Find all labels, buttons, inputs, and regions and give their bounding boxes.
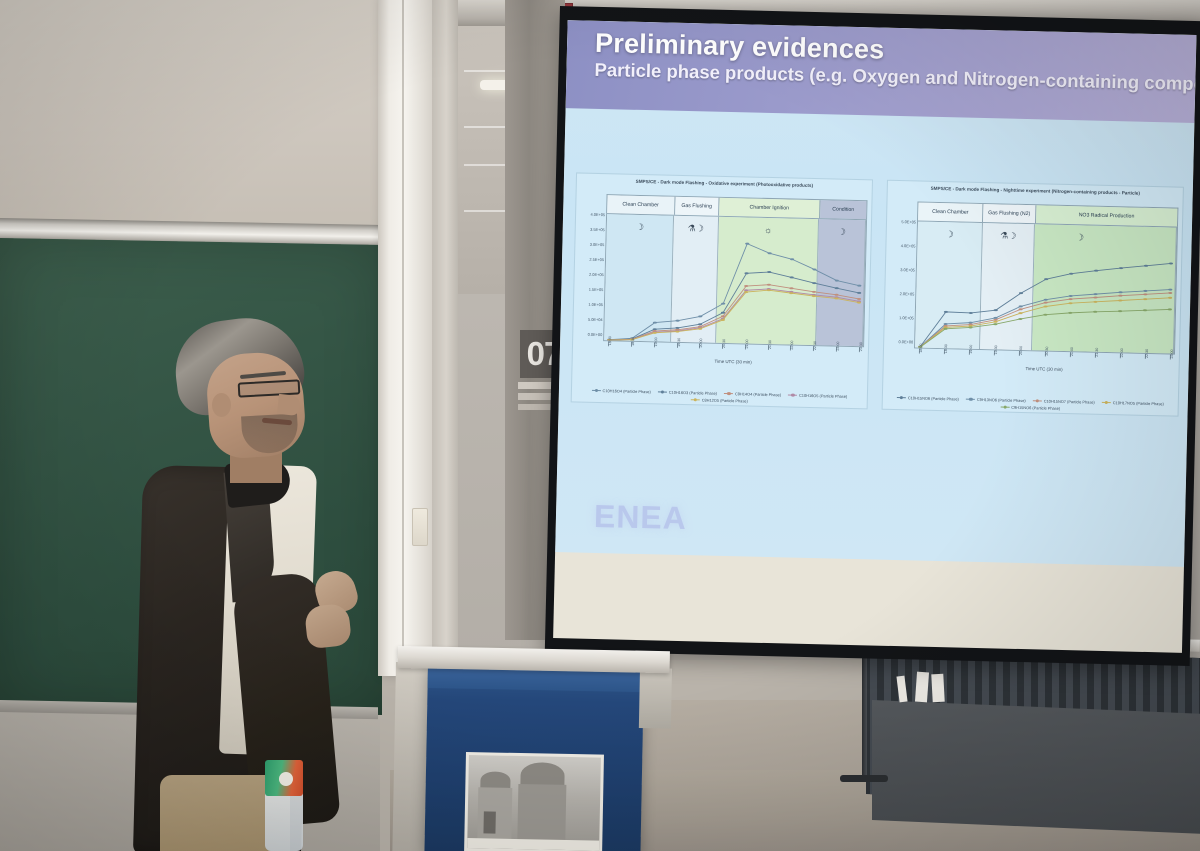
legend-marker-icon [966, 398, 975, 400]
legend-label: C9H14O4 (Particle Phase) [735, 391, 781, 397]
x-tick-label: 18:30 [631, 337, 635, 346]
legend-item: C9H13NO6 (Particle Phase) [966, 397, 1026, 403]
lectern-graphic-panel [464, 752, 604, 851]
series-point [744, 289, 748, 291]
upper-wall [0, 0, 400, 230]
legend-marker-icon [788, 394, 797, 396]
series-point [1118, 299, 1122, 301]
slat-wall-base [872, 700, 1200, 834]
chart-title: SMPS/CE - Dark mode Flashing - Oxidative… [577, 177, 872, 189]
series-line [920, 258, 1171, 353]
y-tick: 3.0E+05 [900, 267, 915, 272]
wall-pillar-secondary [432, 0, 458, 658]
legend-marker-icon [691, 399, 700, 401]
enea-logo: ENEA [594, 498, 688, 537]
x-tick-label: 19:30 [677, 338, 681, 347]
legend-label: C10H16O5 (Particle Phase) [799, 393, 847, 399]
legend-marker-icon [592, 390, 601, 392]
x-tick-label: 21:00 [745, 339, 749, 348]
series-point [1168, 297, 1172, 299]
x-tick-label: 20:00 [1019, 346, 1023, 355]
series-point [1168, 308, 1172, 310]
y-tick: 3.0E+05 [590, 242, 605, 247]
legend-marker-icon [1033, 400, 1042, 402]
legend-marker-icon [1000, 406, 1009, 408]
series-point [1068, 312, 1072, 314]
x-tick-label: 23:00 [836, 342, 840, 351]
y-tick: 2.0E+05 [589, 272, 604, 277]
papers-on-ledge [898, 672, 964, 704]
bottle-body [265, 790, 303, 851]
y-tick: 0.0E+00 [588, 332, 603, 337]
legend-marker-icon [1102, 402, 1111, 404]
series-point [969, 312, 973, 314]
phase-label-clean-chamber: Clean Chamber [918, 203, 984, 223]
chart-y-tick-labels: 5.0E+05 4.0E+05 3.0E+05 2.0E+05 1.0E+05 … [889, 219, 917, 220]
x-tick-label: 22:00 [790, 341, 794, 350]
series-point [1093, 293, 1097, 295]
legend-label: C10H16O4 (Particle Phase) [603, 388, 651, 394]
x-tick-label: 19:30 [994, 345, 998, 354]
building-illustration [467, 755, 601, 851]
y-tick: 5.0E+04 [588, 317, 603, 322]
series-point [1118, 310, 1122, 312]
x-tick-label: 22:30 [813, 341, 817, 350]
x-tick-label: 21:30 [768, 340, 772, 349]
series-point [857, 298, 861, 300]
legend-marker-icon [897, 397, 906, 399]
legend-marker-icon [658, 391, 667, 393]
series-point [1143, 290, 1147, 292]
phase-label-chamber-ignition: Chamber Ignition [719, 198, 820, 218]
y-tick: 3.5E+05 [590, 227, 605, 232]
series-point [812, 291, 816, 293]
series-point [1068, 302, 1072, 304]
series-point [1069, 295, 1073, 297]
series-point [1143, 298, 1147, 300]
series-point [744, 285, 748, 287]
series-point [767, 284, 771, 286]
series-line [920, 287, 1170, 353]
legend-item: C9H14O4 (Particle Phase) [724, 391, 781, 397]
x-tick-label: 18:00 [608, 336, 612, 345]
series-point [1094, 270, 1098, 272]
legend-label: C10H17NO5 (Particle Phase) [1113, 400, 1164, 406]
y-tick: 2.5E+05 [589, 257, 604, 262]
legend-label: C8H12O5 (Particle Phase) [702, 397, 748, 403]
legend-item: C10H16O5 (Particle Phase) [788, 392, 847, 398]
charts-row: SMPS/CE - Dark mode Flashing - Oxidative… [571, 172, 1184, 416]
series-point [1168, 289, 1172, 291]
x-tick-label: 20:30 [722, 339, 726, 348]
chart-legend: C10H16O4 (Particle Phase)C10H16O3 (Parti… [574, 387, 865, 406]
x-tick-label: 20:30 [1044, 347, 1048, 356]
series-point [1093, 311, 1097, 313]
series-point [789, 287, 793, 289]
water-bottle [265, 760, 303, 851]
chart-plot-area: ☽ ⚗☽ ☽ [914, 220, 1178, 354]
projection-surface: Preliminary evidences Particle phase pro… [553, 20, 1196, 653]
legend-item: C8H12O5 (Particle Phase) [691, 397, 748, 403]
legend-marker-icon [724, 393, 733, 395]
chart-card-nighttime: SMPS/CE - Dark mode Flashing - Nighttime… [882, 180, 1184, 417]
x-tick-label: 21:30 [1094, 348, 1098, 357]
chart-plot-wrap: Clean Chamber Gas Flushing (N2) NO3 Radi… [914, 201, 1179, 375]
x-tick-label: 20:00 [699, 338, 703, 347]
chart-plot-wrap: Clean Chamber Gas Flushing Chamber Ignit… [603, 194, 868, 368]
legend-label: C10H16O3 (Particle Phase) [669, 390, 717, 396]
series-point [1169, 262, 1173, 264]
x-tick-label: 21:00 [1069, 347, 1073, 356]
bottle-label-badge [279, 772, 293, 786]
series-point [676, 320, 680, 322]
phase-label-clean-chamber: Clean Chamber [607, 195, 675, 215]
y-tick: 2.0E+05 [900, 291, 915, 296]
chart-y-tick-labels: 4.0E+05 3.5E+05 3.0E+05 2.5E+05 2.0E+05 … [578, 211, 606, 212]
microphone-stand-base [840, 775, 888, 782]
x-tick-label: 23:00 [1170, 349, 1174, 358]
series-line [920, 292, 1170, 353]
x-tick-label: 18:00 [919, 344, 923, 353]
series-point [1143, 293, 1147, 295]
lectern-side-right [639, 668, 672, 729]
phase-label-gas-flushing: Gas Flushing [675, 197, 720, 216]
x-tick-label: 19:00 [969, 345, 973, 354]
chart-series-overlay [915, 221, 1177, 353]
series-point [968, 322, 972, 324]
projection-screen: Preliminary evidences Particle phase pro… [545, 6, 1200, 666]
legend-label: C10H15NO7 (Particle Phase) [1044, 399, 1095, 405]
x-tick-label: 19:00 [654, 337, 658, 346]
chart-title: SMPS/CE - Dark mode Flashing - Nighttime… [888, 185, 1183, 197]
lecture-hall-photo: 07 P [0, 0, 1200, 851]
legend-label: C9H15NO6 (Particle Phase) [1011, 405, 1060, 411]
y-tick: 0.0E+00 [899, 339, 914, 344]
legend-label: C9H13NO6 (Particle Phase) [977, 397, 1026, 403]
phase-label-condition: Condition [820, 200, 866, 219]
chart-legend: C10H15NO6 (Particle Phase)C9H13NO6 (Part… [885, 395, 1176, 414]
y-tick: 5.0E+05 [901, 219, 916, 224]
series-point [1119, 267, 1123, 269]
microphone-stand-pole [862, 640, 867, 780]
series-point [1143, 309, 1147, 311]
series-point [1118, 295, 1122, 297]
presentation-slide: Preliminary evidences Particle phase pro… [555, 20, 1196, 567]
chart-series-overlay [604, 214, 866, 346]
legend-item: C10H15NO7 (Particle Phase) [1033, 398, 1095, 404]
legend-item: C10H15NO6 (Particle Phase) [897, 395, 959, 401]
y-tick: 1.0E+05 [899, 315, 914, 320]
series-point [744, 272, 748, 274]
chart-card-oxidative: SMPS/CE - Dark mode Flashing - Oxidative… [571, 172, 873, 409]
legend-item: C10H16O4 (Particle Phase) [592, 388, 651, 394]
slide-header: Preliminary evidences Particle phase pro… [566, 20, 1197, 123]
legend-item: C9H15NO6 (Particle Phase) [1000, 404, 1060, 410]
x-tick-label: 22:30 [1145, 349, 1149, 358]
series-point [1093, 296, 1097, 298]
y-tick: 4.0E+05 [590, 212, 605, 217]
wall-switch-plate[interactable] [412, 508, 428, 546]
series-line [920, 284, 1170, 353]
x-tick-label: 23:30 [859, 342, 863, 351]
phase-label-gas-flushing-n2: Gas Flushing (N2) [983, 204, 1036, 223]
series-point [675, 327, 679, 329]
series-point [944, 311, 948, 313]
series-point [1144, 265, 1148, 267]
x-tick-label: 18:30 [944, 344, 948, 353]
series-point [1168, 292, 1172, 294]
y-tick: 1.5E+05 [589, 287, 604, 292]
y-tick: 1.0E+05 [588, 302, 603, 307]
legend-item: C10H17NO5 (Particle Phase) [1102, 400, 1164, 406]
series-point [1118, 291, 1122, 293]
x-tick-label: 22:00 [1120, 348, 1124, 357]
series-point [1043, 314, 1047, 316]
presenter-ear [212, 393, 231, 417]
legend-label: C10H15NO6 (Particle Phase) [908, 395, 959, 401]
series-point [834, 294, 838, 296]
y-tick: 4.0E+05 [901, 243, 916, 248]
series-line [609, 281, 859, 346]
presenter-hand-lower [304, 603, 352, 649]
series-point [1093, 301, 1097, 303]
series-point [1069, 298, 1073, 300]
chart-plot-area: ☽ ⚗☽ ☼ ☽ [603, 213, 867, 347]
legend-item: C10H16O3 (Particle Phase) [658, 389, 717, 395]
